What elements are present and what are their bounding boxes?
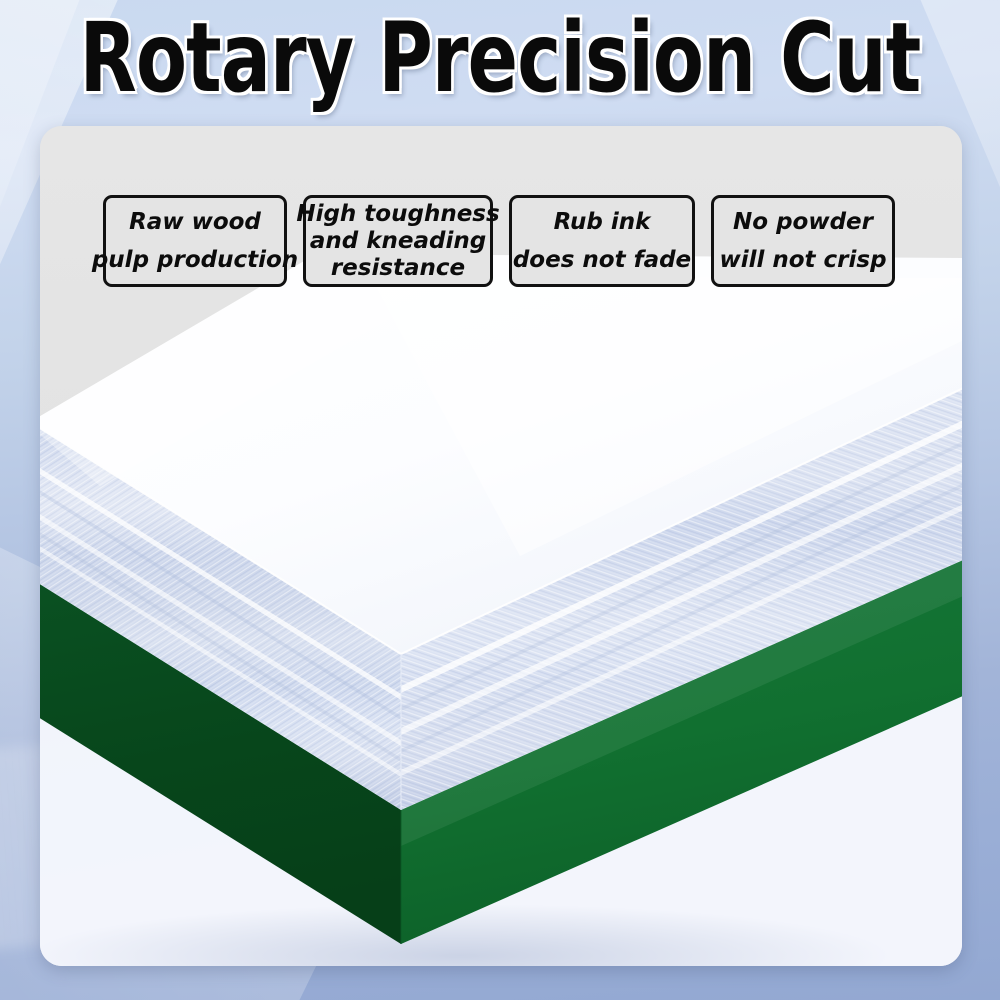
feature-badge-high-toughness: High toughness and kneading resistance — [303, 195, 493, 287]
feature-badge-row: Raw wood pulp production High toughness … — [103, 195, 899, 287]
badge-line: does not fade — [513, 241, 691, 279]
badge-line: Raw wood — [92, 203, 298, 241]
product-image: Rotary Precision Cut — [0, 0, 1000, 1000]
badge-line: pulp production — [92, 241, 298, 279]
product-card: Raw wood pulp production High toughness … — [40, 126, 962, 966]
badge-line: and kneading — [296, 228, 499, 255]
badge-line: High toughness — [296, 201, 499, 228]
feature-badge-raw-wood-pulp: Raw wood pulp production — [103, 195, 287, 287]
badge-line: Rub ink — [513, 203, 691, 241]
badge-line: resistance — [296, 255, 499, 282]
badge-line: No powder — [719, 203, 886, 241]
badge-line: will not crisp — [719, 241, 886, 279]
feature-badge-no-powder: No powder will not crisp — [711, 195, 895, 287]
page-title: Rotary Precision Cut — [70, 6, 930, 110]
feature-badge-rub-ink: Rub ink does not fade — [509, 195, 695, 287]
